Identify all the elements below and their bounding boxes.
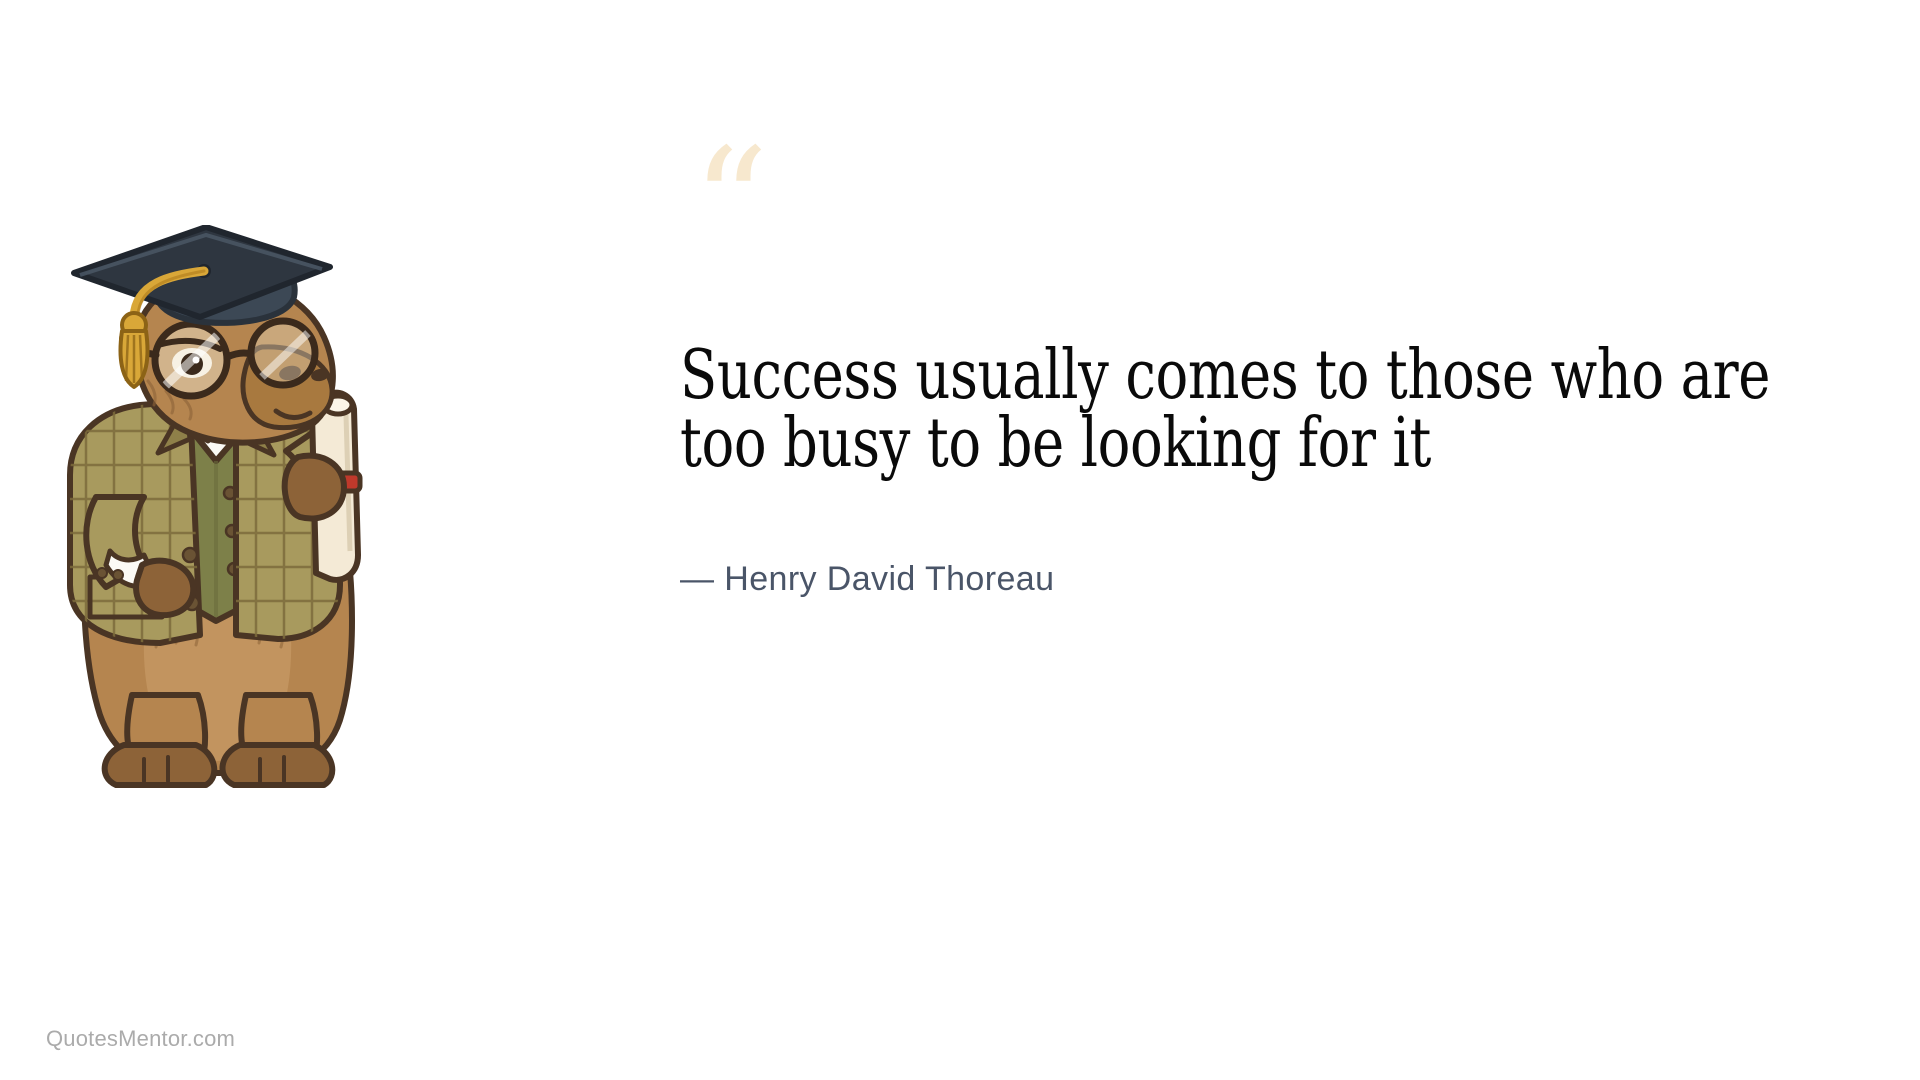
- quote-text: Success usually comes to those who are t…: [680, 342, 1832, 478]
- quote-card: “ Success usually comes to those who are…: [0, 0, 1920, 1080]
- opening-quote-mark-icon: “: [692, 150, 1840, 246]
- quote-block: “ Success usually comes to those who are…: [680, 150, 1840, 599]
- site-watermark: QuotesMentor.com: [46, 1026, 235, 1052]
- capybara-illustration: [40, 225, 380, 805]
- capybara-graduate-icon: [40, 225, 380, 805]
- quote-attribution: — Henry David Thoreau: [680, 560, 1840, 599]
